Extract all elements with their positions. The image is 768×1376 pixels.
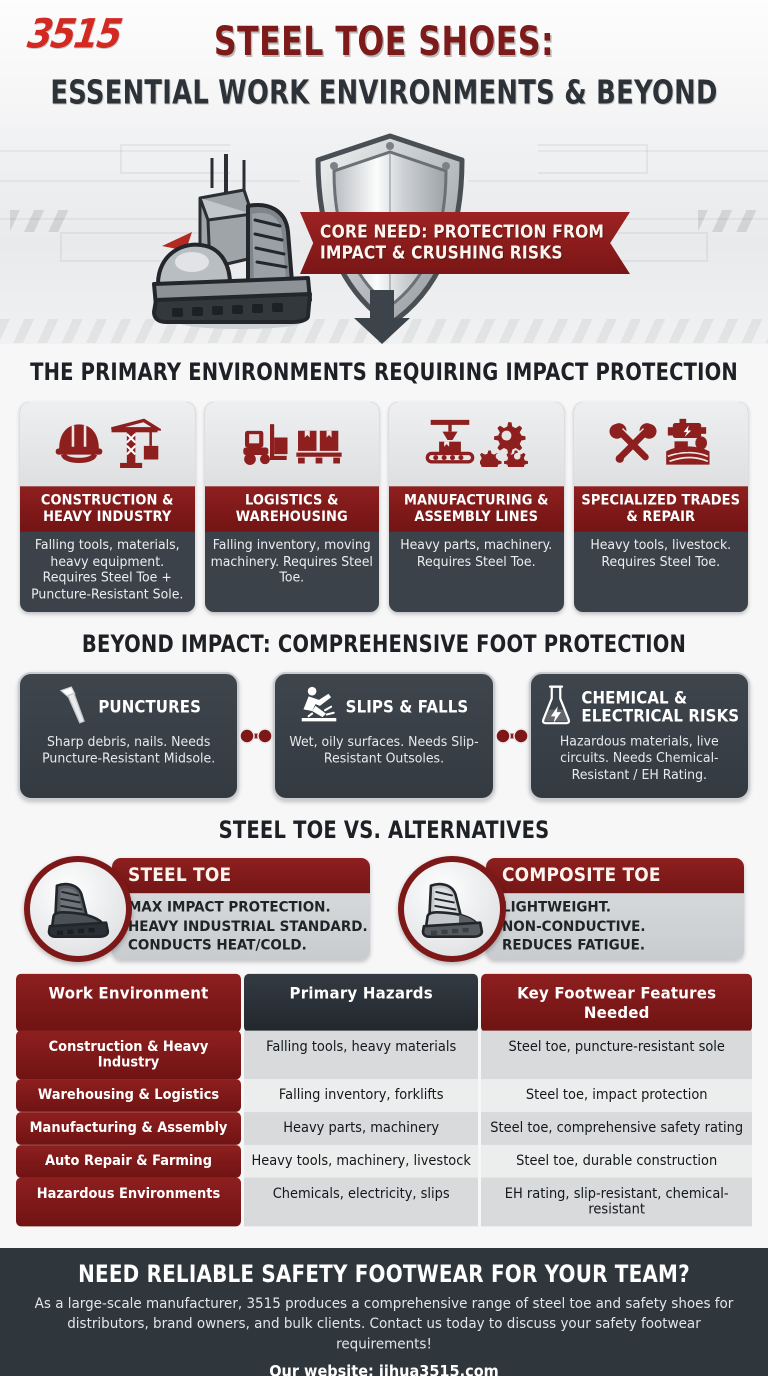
engine-tractor-group-icon [661,418,713,473]
environment-card-body: Falling tools, materials, heavy equipmen… [20,528,195,612]
comparison-card-features: MAX IMPACT PROTECTION. HEAVY INDUSTRIAL … [112,890,370,955]
conveyor-belt-icon [424,418,476,472]
table-cell-hazards: Falling inventory, forklifts [244,1079,478,1112]
infographic-page: 3515 STEEL TOE SHOES: ESSENTIAL WORK ENV… [0,0,768,1376]
table-row: Warehousing & Logistics Falling inventor… [16,1080,752,1111]
comparison-card-row: STEEL TOE MAX IMPACT PROTECTION. HEAVY I… [0,856,768,964]
pallet-boxes-icon [294,419,344,471]
core-need-line1: CORE NEED: PROTECTION FROM [320,220,611,243]
beyond-card-slips-falls[interactable]: SLIPS & FALLS Wet, oily surfaces. Needs … [273,672,494,800]
environment-card-body: Heavy parts, machinery. Requires Steel T… [389,528,564,612]
chemical-flask-bolt-icon [539,684,573,730]
comparison-feature: LIGHTWEIGHT. [502,899,744,918]
footer-title: NEED RELIABLE SAFETY FOOTWEAR FOR YOUR T… [19,1260,749,1287]
table-cell-features: EH rating, slip-resistant, chemical-resi… [481,1178,752,1227]
beyond-card-row: PUNCTURES Sharp debris, nails. Needs Pun… [0,672,768,800]
hard-hat-icon [54,419,104,471]
table-cell-environment: Hazardous Environments [16,1178,241,1227]
page-title-line1: STEEL TOE SHOES: [27,18,741,65]
environment-card-construction[interactable]: CONSTRUCTION & HEAVY INDUSTRY Falling to… [20,402,195,612]
beyond-card-punctures[interactable]: PUNCTURES Sharp debris, nails. Needs Pun… [18,672,239,800]
slip-fall-icon [300,685,338,730]
beyond-card-head: SLIPS & FALLS [283,686,484,728]
table-cell-hazards: Heavy tools, machinery, livestock [244,1145,478,1178]
environments-title: THE PRIMARY ENVIRONMENTS REQUIRING IMPAC… [27,358,741,386]
table-header-primary-hazards: Primary Hazards [244,974,478,1032]
gears-icon [480,419,528,472]
comparison-feature: REDUCES FATIGUE. [502,936,744,955]
nail-icon [56,685,90,730]
beyond-card-title: SLIPS & FALLS [346,698,469,716]
wrenches-icon [609,419,657,472]
table-cell-features: Steel toe, durable construction [481,1145,752,1178]
dumbbell-connector-icon [495,728,529,744]
environment-card-title: LOGISTICS & WAREHOUSING [205,486,380,531]
table-row: Auto Repair & Farming Heavy tools, machi… [16,1146,752,1177]
dumbbell-connector-icon [239,728,273,744]
core-need-line2: IMPACT & CRUSHING RISKS [320,241,611,264]
table-header-row: Work Environment Primary Hazards Key Foo… [16,976,752,1030]
table-header-key-features: Key Footwear Features Needed [481,974,752,1032]
beyond-card-body: Hazardous materials, live circuits. Need… [539,733,740,783]
environments-section: THE PRIMARY ENVIRONMENTS REQUIRING IMPAC… [0,344,768,612]
beyond-impact-section: BEYOND IMPACT: COMPREHENSIVE FOOT PROTEC… [0,612,768,800]
environment-card-manufacturing[interactable]: MANUFACTURING & ASSEMBLY LINES Heavy par… [389,402,564,612]
page-title-line2: ESSENTIAL WORK ENVIRONMENTS & BEYOND [31,73,738,111]
comparison-title: STEEL TOE VS. ALTERNATIVES [27,816,741,844]
table-cell-hazards: Chemicals, electricity, slips [244,1178,478,1227]
comparison-card-composite-toe[interactable]: COMPOSITE TOE LIGHTWEIGHT. NON-CONDUCTIV… [398,856,744,964]
footer-cta: NEED RELIABLE SAFETY FOOTWEAR FOR YOUR T… [0,1248,768,1376]
table-cell-features: Steel toe, puncture-resistant sole [481,1031,752,1080]
table-cell-hazards: Falling tools, heavy materials [244,1031,478,1080]
beyond-card-head: CHEMICAL & ELECTRICAL RISKS [539,686,740,728]
environment-card-body: Heavy tools, livestock. Requires Steel T… [574,528,749,612]
steel-toe-boot-icon [24,856,132,962]
beyond-card-body: Wet, oily surfaces. Needs Slip-Resistant… [283,733,484,767]
beyond-card-chemical-electrical[interactable]: CHEMICAL & ELECTRICAL RISKS Hazardous ma… [529,672,750,800]
beyond-card-body: Sharp debris, nails. Needs Puncture-Resi… [28,733,229,767]
crane-icon [108,417,161,473]
environment-card-title: CONSTRUCTION & HEAVY INDUSTRY [20,486,195,531]
comparison-feature: CONDUCTS HEAT/COLD. [128,936,370,955]
forklift-icon [240,419,290,471]
comparison-card-title: STEEL TOE [112,858,370,893]
environment-card-icons [574,402,749,488]
table-cell-features: Steel toe, impact protection [481,1079,752,1112]
environment-card-icons [389,402,564,488]
beyond-card-title: CHEMICAL & ELECTRICAL RISKS [581,689,739,724]
table-cell-environment: Manufacturing & Assembly [16,1112,241,1145]
environment-card-title: SPECIALIZED TRADES & REPAIR [574,486,749,531]
table-row: Hazardous Environments Chemicals, electr… [16,1179,752,1225]
footer-body: As a large-scale manufacturer, 3515 prod… [0,1294,768,1354]
footer-website[interactable]: Our website: jihua3515.com [0,1363,768,1376]
down-arrow-icon [352,290,412,344]
beyond-impact-title: BEYOND IMPACT: COMPREHENSIVE FOOT PROTEC… [27,630,741,658]
comparison-panel: STEEL TOE MAX IMPACT PROTECTION. HEAVY I… [112,858,370,960]
comparison-card-title: COMPOSITE TOE [486,858,744,893]
comparison-feature: MAX IMPACT PROTECTION. [128,899,370,918]
environment-card-title: MANUFACTURING & ASSEMBLY LINES [389,486,564,531]
environment-card-icons [20,402,195,488]
environments-hazards-table: Work Environment Primary Hazards Key Foo… [16,976,752,1225]
table-header-work-environment: Work Environment [16,974,241,1032]
beyond-card-head: PUNCTURES [28,686,229,728]
environment-card-body: Falling inventory, moving machinery. Req… [205,528,380,612]
core-need-banner: CORE NEED: PROTECTION FROM IMPACT & CRUS… [300,212,630,274]
table-cell-environment: Construction & Heavy Industry [16,1031,241,1080]
comparison-card-steel-toe[interactable]: STEEL TOE MAX IMPACT PROTECTION. HEAVY I… [24,856,370,964]
comparison-panel: COMPOSITE TOE LIGHTWEIGHT. NON-CONDUCTIV… [486,858,744,960]
comparison-card-features: LIGHTWEIGHT. NON-CONDUCTIVE. REDUCES FAT… [486,890,744,955]
tractor-farm-icon [666,436,709,464]
comparison-feature: HEAVY INDUSTRIAL STANDARD. [128,918,370,937]
comparison-section: STEEL TOE VS. ALTERNATIVES STEEL TOE MAX… [0,800,768,964]
composite-toe-boot-icon [398,856,506,962]
comparison-feature: NON-CONDUCTIVE. [502,918,744,937]
table-row: Construction & Heavy Industry Falling to… [16,1032,752,1078]
environment-card-row: CONSTRUCTION & HEAVY INDUSTRY Falling to… [0,402,768,612]
engine-icon [668,418,706,437]
hero-section: CORE NEED: PROTECTION FROM IMPACT & CRUS… [0,122,768,344]
environment-card-icons [205,402,380,488]
environment-card-specialized-trades[interactable]: SPECIALIZED TRADES & REPAIR Heavy tools,… [574,402,749,612]
environment-card-logistics[interactable]: LOGISTICS & WAREHOUSING Falling inventor… [205,402,380,612]
table-cell-features: Steel toe, comprehensive safety rating [481,1112,752,1145]
table-cell-hazards: Heavy parts, machinery [244,1112,478,1145]
table-row: Manufacturing & Assembly Heavy parts, ma… [16,1113,752,1144]
header: 3515 STEEL TOE SHOES: ESSENTIAL WORK ENV… [0,0,768,122]
table-cell-environment: Auto Repair & Farming [16,1145,241,1178]
beyond-card-title: PUNCTURES [98,698,201,716]
table-cell-environment: Warehousing & Logistics [16,1079,241,1112]
